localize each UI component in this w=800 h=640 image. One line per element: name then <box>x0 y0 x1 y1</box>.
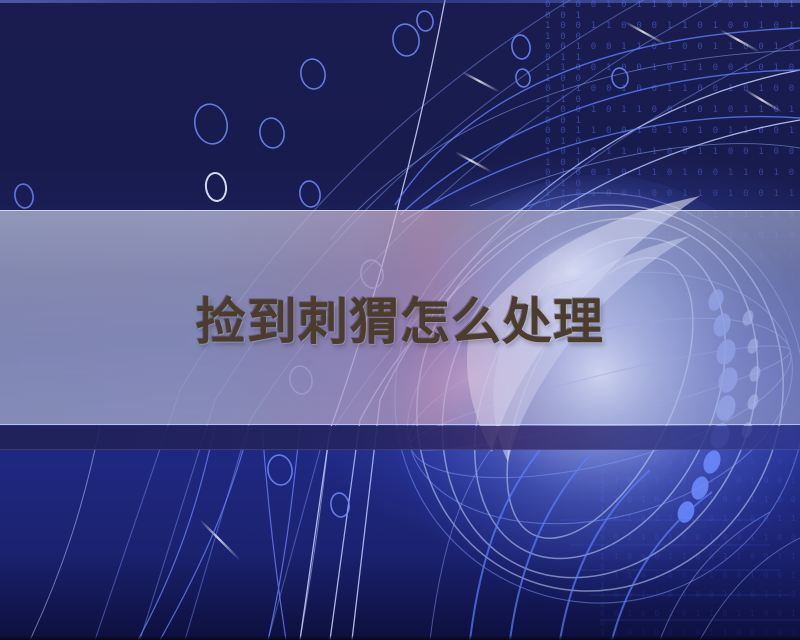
banner-image: 0 1 0 0 1 0 1 1 0 0 1 0 0 1 1 0 1 0 0 1 … <box>0 0 800 640</box>
title-band <box>0 210 800 425</box>
top-edge-line <box>0 0 800 3</box>
title-band-shadow-strip <box>0 426 800 450</box>
bottom-edge-line <box>0 636 800 640</box>
